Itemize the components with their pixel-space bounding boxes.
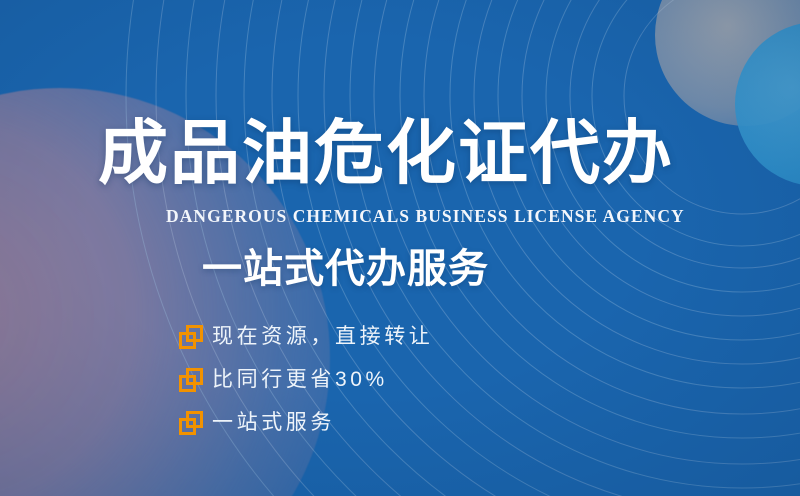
list-item-label: 一站式服务: [212, 410, 335, 436]
main-title: 成品油危化证代办: [98, 112, 674, 194]
list-item: 现在资源，直接转让: [179, 318, 433, 356]
banner-content: 成品油危化证代办 DANGEROUS CHEMICALS BUSINESS LI…: [0, 0, 800, 496]
double-square-icon: [179, 325, 203, 349]
english-subtitle: DANGEROUS CHEMICALS BUSINESS LICENSE AGE…: [166, 205, 685, 227]
sub-title: 一站式代办服务: [202, 244, 489, 294]
list-item: 比同行更省30%: [179, 361, 433, 399]
list-item: 一站式服务: [179, 404, 433, 442]
double-square-icon: [179, 368, 203, 392]
list-item-label: 现在资源，直接转让: [212, 324, 433, 350]
double-square-icon: [179, 411, 203, 435]
feature-list: 现在资源，直接转让 比同行更省30% 一站式服务: [179, 318, 433, 447]
list-item-label: 比同行更省30%: [212, 367, 388, 393]
promotional-banner: 成品油危化证代办 DANGEROUS CHEMICALS BUSINESS LI…: [0, 0, 800, 496]
